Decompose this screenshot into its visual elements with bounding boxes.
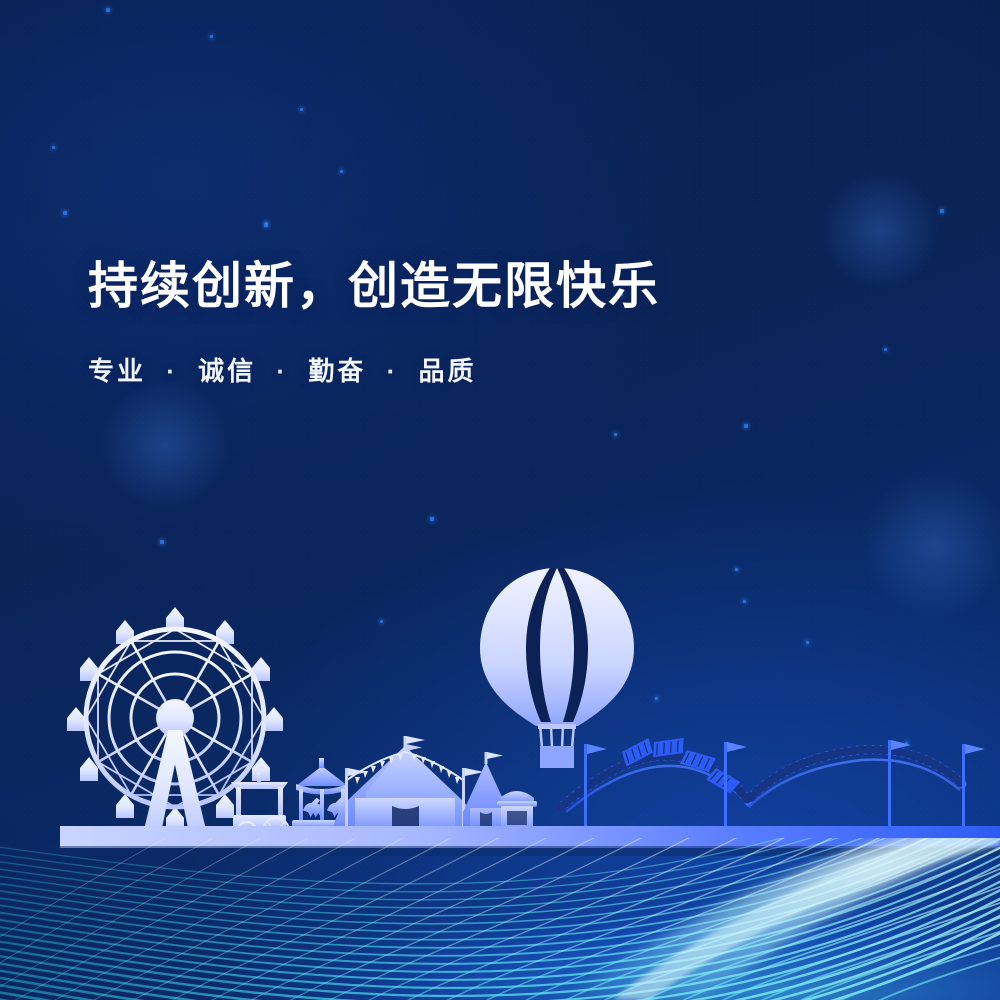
circus-tent-big [332, 736, 484, 834]
hot-air-balloon [480, 568, 634, 768]
banner-canvas: 持续创新，创造无限快乐 专业 · 诚信 · 勤奋 · 品质 [0, 0, 1000, 1000]
hero-copy: 持续创新，创造无限快乐 专业 · 诚信 · 勤奋 · 品质 [88, 258, 660, 388]
page-title: 持续创新，创造无限快乐 [88, 258, 660, 315]
subtitle-separator-1: · [276, 356, 288, 387]
subtitle-item-2: 勤奋 [308, 356, 366, 386]
subtitle-separator-0: · [166, 356, 178, 387]
subtitle-separator-2: · [387, 356, 399, 387]
amusement-park-skyline [0, 0, 1000, 1000]
hero-subtitle: 专业 · 诚信 · 勤奋 · 品质 [88, 351, 660, 388]
ferris-wheel [67, 607, 283, 840]
subtitle-item-3: 品质 [418, 356, 476, 386]
ground-strip [60, 826, 1000, 848]
roller-coaster [560, 738, 985, 834]
subtitle-item-1: 诚信 [198, 356, 256, 386]
ground-shadow [0, 846, 1000, 856]
subtitle-item-0: 专业 [88, 356, 146, 386]
